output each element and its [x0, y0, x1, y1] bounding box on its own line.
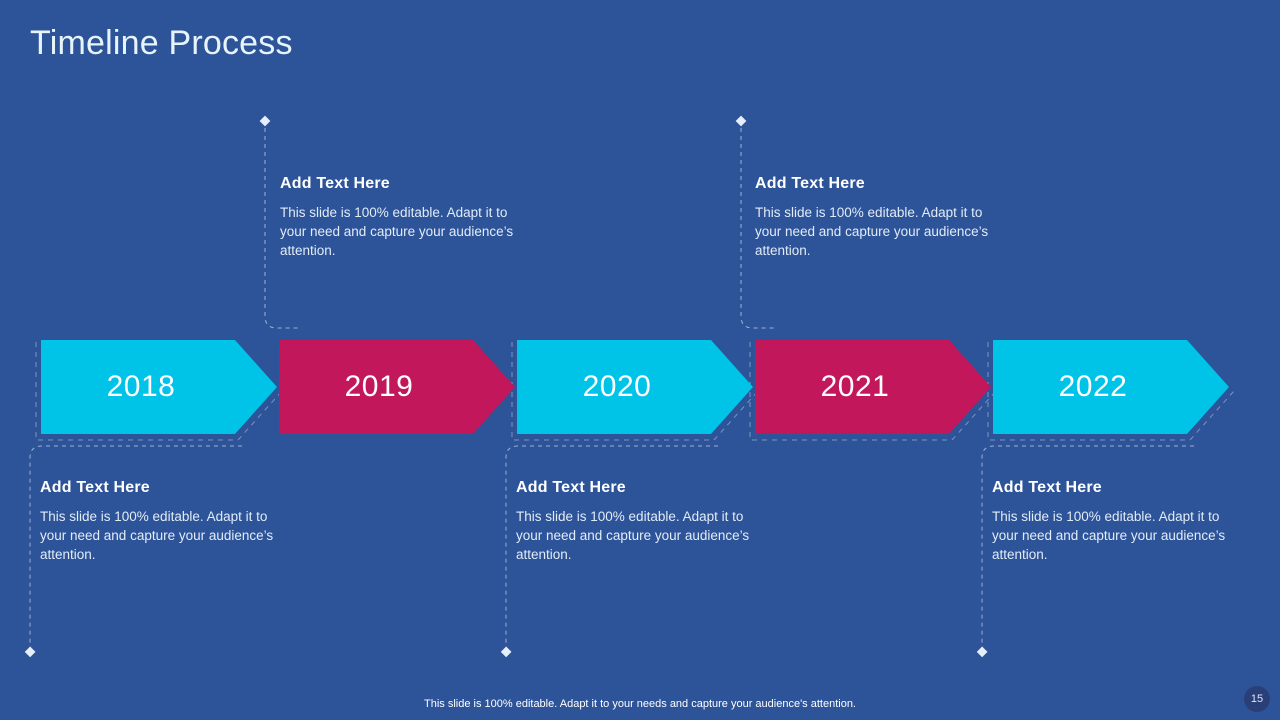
chevron-year-label: 2019 [345, 370, 414, 404]
page-number-badge: 15 [1244, 686, 1270, 712]
timeline-chevron-2018[interactable]: 2018 [41, 340, 277, 434]
chevron-year-label: 2018 [107, 370, 176, 404]
timeline-chevron-2020[interactable]: 2020 [517, 340, 753, 434]
callout-heading: Add Text Here [40, 479, 288, 497]
callout-body: This slide is 100% editable. Adapt it to… [992, 507, 1240, 564]
callout-below-2022: Add Text Here This slide is 100% editabl… [992, 479, 1240, 564]
slide-canvas: Timeline Process [0, 0, 1280, 720]
timeline-chevron-2019[interactable]: 2019 [279, 340, 515, 434]
footer-note: This slide is 100% editable. Adapt it to… [0, 698, 1280, 710]
timeline-chevron-2022[interactable]: 2022 [993, 340, 1229, 434]
callout-above-2019: Add Text Here This slide is 100% editabl… [280, 175, 528, 260]
timeline-chevron-band: 2018 2019 2020 2021 2022 [0, 340, 1280, 434]
chevron-year-label: 2021 [821, 370, 890, 404]
callout-body: This slide is 100% editable. Adapt it to… [755, 203, 1003, 260]
callout-body: This slide is 100% editable. Adapt it to… [40, 507, 288, 564]
page-title: Timeline Process [30, 24, 293, 63]
callout-heading: Add Text Here [280, 175, 528, 193]
callout-heading: Add Text Here [755, 175, 1003, 193]
callout-heading: Add Text Here [992, 479, 1240, 497]
timeline-chevron-2021[interactable]: 2021 [755, 340, 991, 434]
callout-below-2020: Add Text Here This slide is 100% editabl… [516, 479, 764, 564]
callout-body: This slide is 100% editable. Adapt it to… [280, 203, 528, 260]
callout-above-2021: Add Text Here This slide is 100% editabl… [755, 175, 1003, 260]
chevron-year-label: 2020 [583, 370, 652, 404]
callout-below-2018: Add Text Here This slide is 100% editabl… [40, 479, 288, 564]
callout-heading: Add Text Here [516, 479, 764, 497]
chevron-year-label: 2022 [1059, 370, 1128, 404]
callout-body: This slide is 100% editable. Adapt it to… [516, 507, 764, 564]
